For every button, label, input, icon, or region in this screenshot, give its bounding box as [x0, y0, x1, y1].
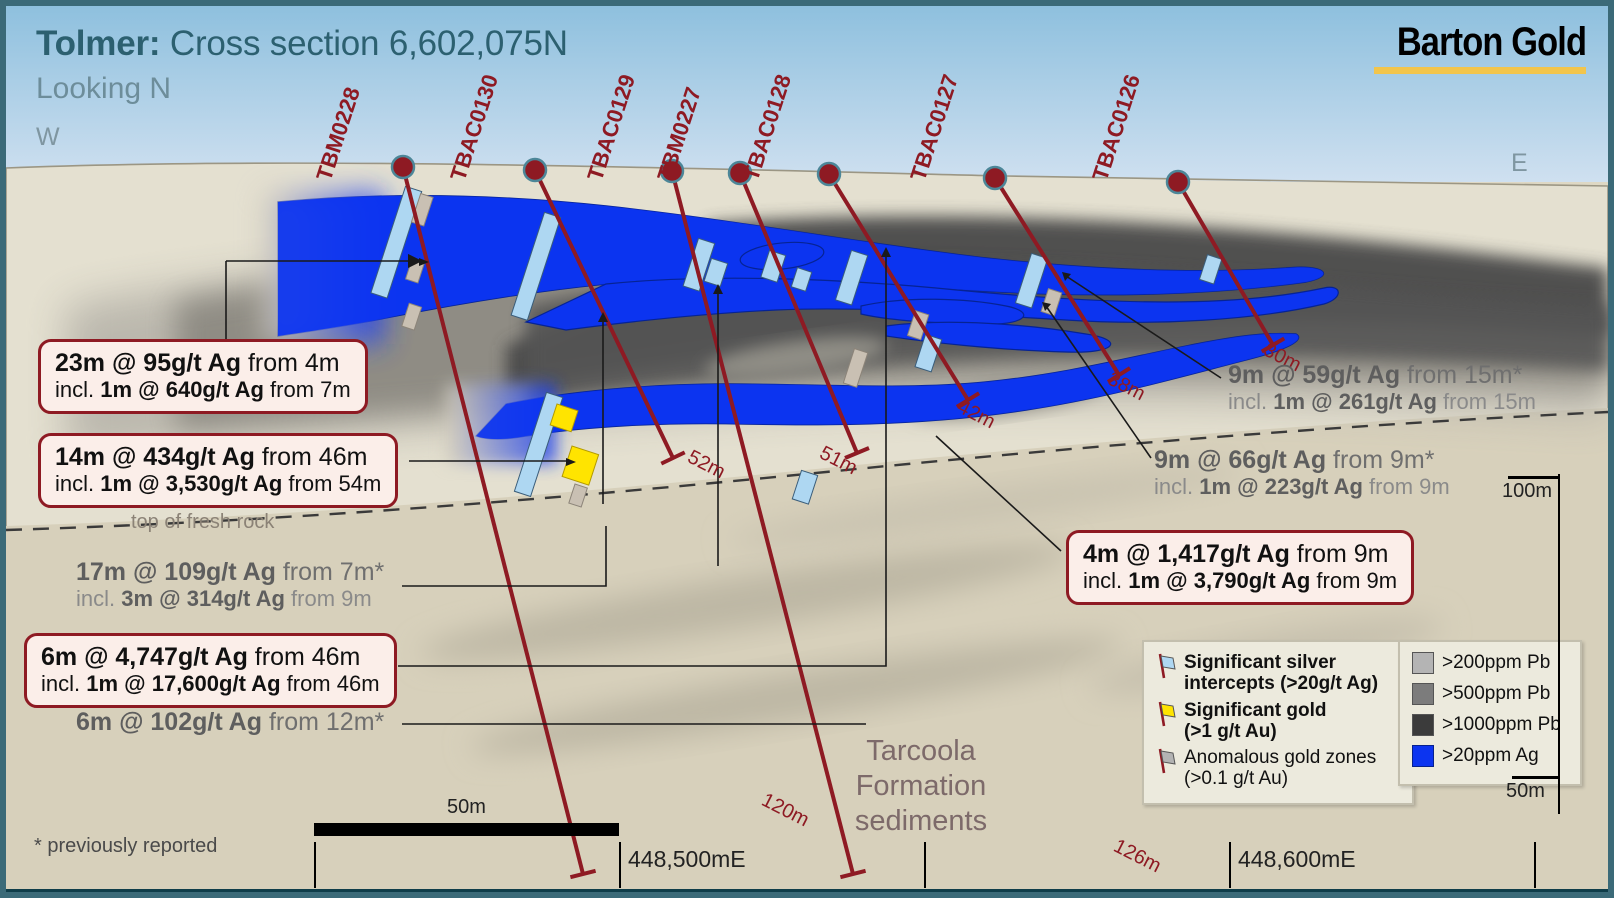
intercept-callout: 4m @ 1,417g/t Ag from 9mincl. 1m @ 3,790…	[1066, 530, 1414, 605]
legend-symbol-label-line1: Significant gold	[1184, 700, 1327, 721]
horizontal-scale-bar: 50m	[314, 796, 619, 836]
horizontal-scale-label: 50m	[314, 796, 619, 819]
intercept-grade: 23m @ 95g/t Ag	[55, 349, 241, 377]
legend-grade-row: >200ppm Pb	[1412, 652, 1572, 674]
intercept-primary-line: 23m @ 95g/t Ag from 4m	[55, 349, 351, 377]
axis-tick-5	[1534, 842, 1536, 888]
legend-symbol-row: Anomalous gold zones(>0.1 g/t Au)	[1156, 747, 1402, 790]
bottom-axis	[6, 889, 1608, 892]
intercept-incl-grade: 1m @ 3,790g/t Ag	[1128, 568, 1310, 593]
intercept-from: from 7m*	[276, 558, 384, 586]
legend-symbol-label-line2: intercepts (>20g/t Ag)	[1184, 673, 1378, 694]
axis-tick-1	[314, 842, 316, 888]
legend-grades: >200ppm Pb>500ppm Pb>1000ppm Pb>20ppm Ag	[1398, 640, 1582, 786]
intercept-incl-from: from 7m	[264, 377, 351, 402]
intercept-callout: 14m @ 434g/t Ag from 46mincl. 1m @ 3,530…	[38, 433, 398, 508]
intercept-incl-from: from 9m	[1310, 568, 1397, 593]
intercept-incl-prefix: incl.	[76, 586, 121, 611]
intercept-primary-line: 14m @ 434g/t Ag from 46m	[55, 443, 381, 471]
vertical-scale-upper-label: 100m	[1502, 480, 1560, 503]
legend-symbol-row: Significant silverintercepts (>20g/t Ag)	[1156, 652, 1402, 695]
legend-grade-swatch	[1412, 683, 1434, 705]
intercept-included-line: incl. 1m @ 17,600g/t Ag from 46m	[41, 671, 380, 696]
intercept-incl-prefix: incl.	[1228, 389, 1273, 414]
legend-grade-swatch	[1412, 745, 1434, 767]
intercept-callout: 17m @ 109g/t Ag from 7m*incl. 3m @ 314g/…	[76, 558, 384, 612]
legend-grade-label: >1000ppm Pb	[1442, 714, 1561, 735]
intercept-grade: 6m @ 102g/t Ag	[76, 708, 262, 736]
intercept-grade: 4m @ 1,417g/t Ag	[1083, 540, 1290, 568]
intercept-incl-grade: 1m @ 261g/t Ag	[1273, 389, 1437, 414]
legend-symbol-label-line2: (>1 g/t Au)	[1184, 721, 1327, 742]
intercept-primary-line: 6m @ 102g/t Ag from 12m*	[76, 708, 384, 736]
intercept-from: from 12m*	[262, 708, 384, 736]
intercept-callout: 9m @ 66g/t Ag from 9m*incl. 1m @ 223g/t …	[1154, 446, 1450, 500]
intercept-callout: 6m @ 102g/t Ag from 12m*	[76, 708, 384, 736]
intercept-included-line: incl. 3m @ 314g/t Ag from 9m	[76, 586, 384, 612]
intercept-from: from 46m	[248, 643, 361, 671]
intercept-primary-line: 4m @ 1,417g/t Ag from 9m	[1083, 540, 1397, 568]
intercept-grade: 9m @ 66g/t Ag	[1154, 446, 1326, 474]
legend-grade-label: >500ppm Pb	[1442, 683, 1550, 704]
intercept-incl-from: from 15m	[1437, 389, 1536, 414]
intercept-from: from 46m	[255, 443, 368, 471]
cross-section-figure: Tolmer: Cross section 6,602,075N Looking…	[0, 0, 1614, 898]
legend-symbol-label: Anomalous gold zones(>0.1 g/t Au)	[1184, 747, 1376, 790]
legend-symbol-label: Significant gold(>1 g/t Au)	[1184, 700, 1327, 743]
intercept-incl-prefix: incl.	[55, 471, 100, 496]
intercept-grade: 6m @ 4,747g/t Ag	[41, 643, 248, 671]
legend-symbol-label-line1: Anomalous gold zones	[1184, 747, 1376, 768]
legend-grade-swatch	[1412, 714, 1434, 736]
footnote: * previously reported	[34, 835, 217, 858]
intercept-incl-grade: 1m @ 223g/t Ag	[1199, 474, 1363, 499]
intercept-included-line: incl. 1m @ 3,530g/t Ag from 54m	[55, 471, 381, 496]
legend-grade-row: >500ppm Pb	[1412, 683, 1572, 705]
legend-grade-label: >200ppm Pb	[1442, 652, 1550, 673]
intercept-incl-prefix: incl.	[1083, 568, 1128, 593]
intercept-from: from 15m*	[1400, 361, 1522, 389]
legend-grade-row: >20ppm Ag	[1412, 745, 1572, 767]
intercept-grade: 14m @ 434g/t Ag	[55, 443, 255, 471]
formation-label-line1: Tarcoola Formation	[801, 734, 1041, 804]
legend-grade-row: >1000ppm Pb	[1412, 714, 1572, 736]
scale-bar-fill	[314, 823, 619, 836]
intercept-included-line: incl. 1m @ 640g/t Ag from 7m	[55, 377, 351, 402]
intercept-from: from 9m	[1290, 540, 1389, 568]
intercept-incl-grade: 1m @ 3,530g/t Ag	[100, 471, 282, 496]
intercept-incl-from: from 9m	[285, 586, 372, 611]
intercept-incl-grade: 3m @ 314g/t Ag	[121, 586, 285, 611]
intercept-incl-from: from 54m	[282, 471, 381, 496]
intercept-callout: 9m @ 59g/t Ag from 15m*incl. 1m @ 261g/t…	[1228, 361, 1536, 415]
axis-tick-3	[924, 842, 926, 888]
intercept-incl-from: from 46m	[281, 671, 380, 696]
intercept-primary-line: 17m @ 109g/t Ag from 7m*	[76, 558, 384, 586]
coord-label-left: 448,500mE	[628, 846, 746, 873]
intercept-included-line: incl. 1m @ 223g/t Ag from 9m	[1154, 474, 1450, 500]
silver-flag-icon	[1156, 653, 1176, 679]
legend-grade-swatch	[1412, 652, 1434, 674]
legend-symbol-label: Significant silverintercepts (>20g/t Ag)	[1184, 652, 1378, 695]
intercept-callout: 23m @ 95g/t Ag from 4mincl. 1m @ 640g/t …	[38, 339, 368, 414]
vertical-scale-lower-label: 50m	[1506, 780, 1560, 803]
anomalous-flag-icon	[1156, 748, 1176, 774]
fresh-rock-label: top of fresh rock	[131, 511, 274, 534]
intercept-incl-from: from 9m	[1363, 474, 1450, 499]
vertical-scale-upper: 100m	[1502, 476, 1560, 503]
intercept-incl-grade: 1m @ 17,600g/t Ag	[86, 671, 280, 696]
intercept-from: from 4m	[241, 349, 340, 377]
coord-label-right: 448,600mE	[1238, 846, 1356, 873]
intercept-primary-line: 6m @ 4,747g/t Ag from 46m	[41, 643, 380, 671]
formation-label: Tarcoola Formation sediments	[801, 734, 1041, 838]
intercept-incl-prefix: incl.	[1154, 474, 1199, 499]
intercept-incl-prefix: incl.	[41, 671, 86, 696]
intercept-primary-line: 9m @ 59g/t Ag from 15m*	[1228, 361, 1536, 389]
formation-label-line2: sediments	[801, 804, 1041, 839]
vertical-scale-lower: 50m	[1506, 776, 1560, 803]
legend-grade-label: >20ppm Ag	[1442, 745, 1539, 766]
intercept-included-line: incl. 1m @ 261g/t Ag from 15m	[1228, 389, 1536, 415]
intercept-primary-line: 9m @ 66g/t Ag from 9m*	[1154, 446, 1450, 474]
intercept-incl-grade: 1m @ 640g/t Ag	[100, 377, 264, 402]
axis-tick-4	[1229, 842, 1231, 888]
intercept-grade: 17m @ 109g/t Ag	[76, 558, 276, 586]
axis-tick-2	[619, 842, 621, 888]
intercept-grade: 9m @ 59g/t Ag	[1228, 361, 1400, 389]
vertical-scale-axis	[1558, 474, 1560, 814]
intercept-incl-prefix: incl.	[55, 377, 100, 402]
legend-symbol-label-line2: (>0.1 g/t Au)	[1184, 768, 1376, 789]
intercept-included-line: incl. 1m @ 3,790g/t Ag from 9m	[1083, 568, 1397, 593]
gold-flag-icon	[1156, 701, 1176, 727]
intercept-callout: 6m @ 4,747g/t Ag from 46mincl. 1m @ 17,6…	[24, 633, 397, 708]
intercept-from: from 9m*	[1326, 446, 1434, 474]
legend-symbols: Significant silverintercepts (>20g/t Ag)…	[1142, 640, 1414, 805]
legend-symbol-label-line1: Significant silver	[1184, 652, 1378, 673]
legend-symbol-row: Significant gold(>1 g/t Au)	[1156, 700, 1402, 743]
